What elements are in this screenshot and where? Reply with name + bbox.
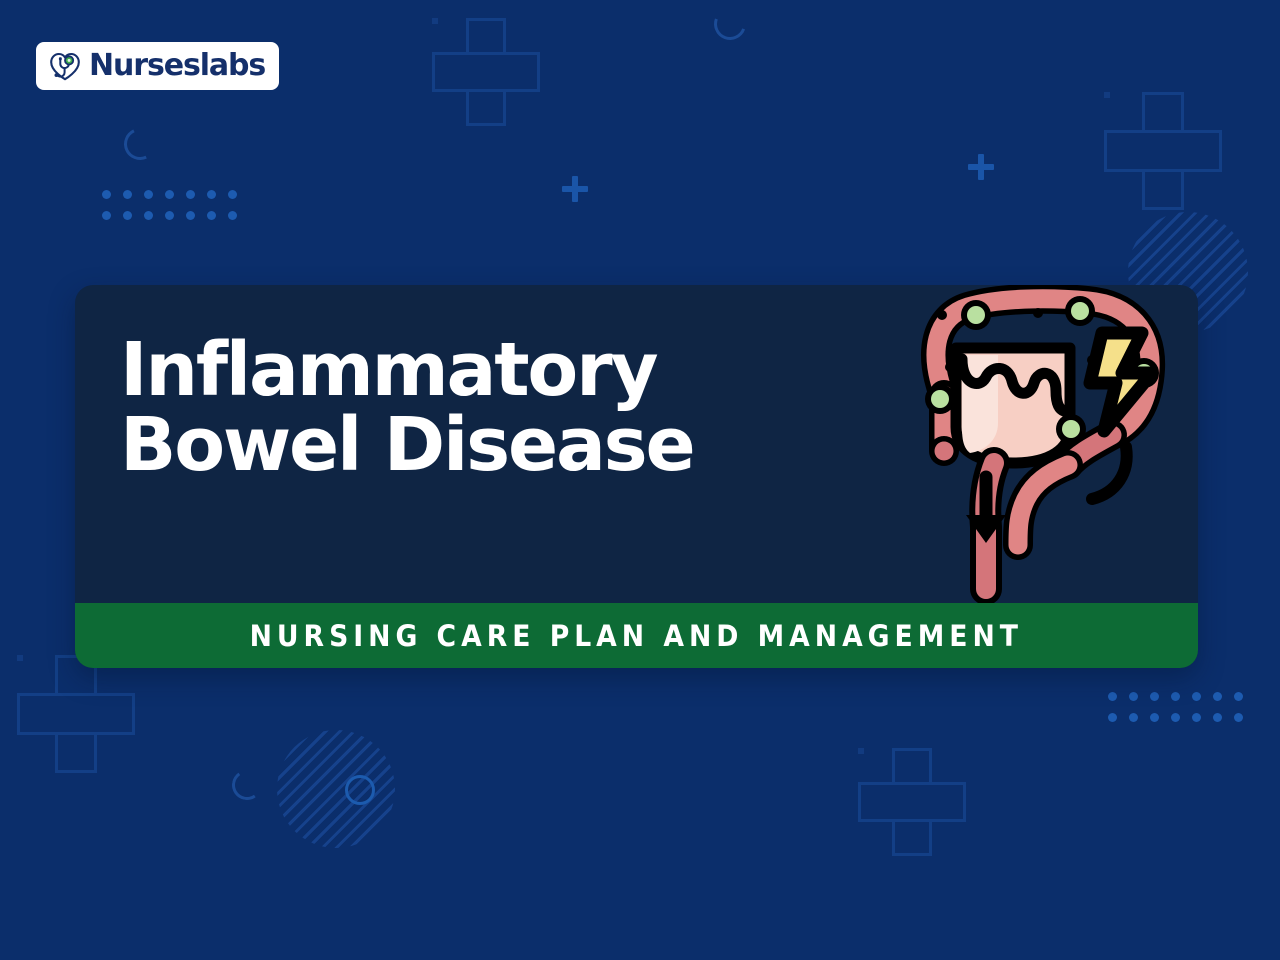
poster-canvas: Nurseslabs Inflammatory Bowel Disease xyxy=(0,0,1280,960)
crescent-arc-shape xyxy=(119,123,160,164)
page-title: Inflammatory Bowel Disease xyxy=(120,333,920,484)
inflammation-dot xyxy=(925,384,955,414)
crescent-arc-shape xyxy=(709,3,752,46)
crescent-arc-shape xyxy=(230,768,265,803)
title-card: Inflammatory Bowel Disease xyxy=(75,285,1198,668)
logo-wordmark: Nurseslabs xyxy=(89,51,265,81)
dark-spot xyxy=(1033,308,1043,318)
cross-outline-icon xyxy=(858,748,966,856)
plus-mark-icon xyxy=(968,154,994,180)
subtitle-banner: Nursing Care Plan and Management xyxy=(75,603,1198,668)
inflammation-dot xyxy=(1056,414,1086,444)
nurseslabs-logo[interactable]: Nurseslabs xyxy=(36,42,279,90)
inflammation-dot xyxy=(1065,296,1095,326)
cross-outline-icon xyxy=(1104,92,1222,210)
inflammation-dot xyxy=(961,300,991,330)
inflamed-intestine-icon xyxy=(898,285,1188,607)
cross-outline-icon xyxy=(432,18,540,126)
cross-outline-icon xyxy=(17,655,135,773)
subtitle-text: Nursing Care Plan and Management xyxy=(250,619,1023,653)
dot-grid-pattern xyxy=(1108,692,1243,722)
ring-outline-shape xyxy=(345,775,375,805)
dark-spot xyxy=(937,310,947,320)
plus-mark-icon xyxy=(562,176,588,202)
heart-stethoscope-icon xyxy=(48,50,82,82)
card-title-area: Inflammatory Bowel Disease xyxy=(75,285,1198,603)
dark-spot xyxy=(945,362,955,372)
striped-circle-shape xyxy=(277,730,395,848)
dot-grid-pattern xyxy=(102,190,237,220)
